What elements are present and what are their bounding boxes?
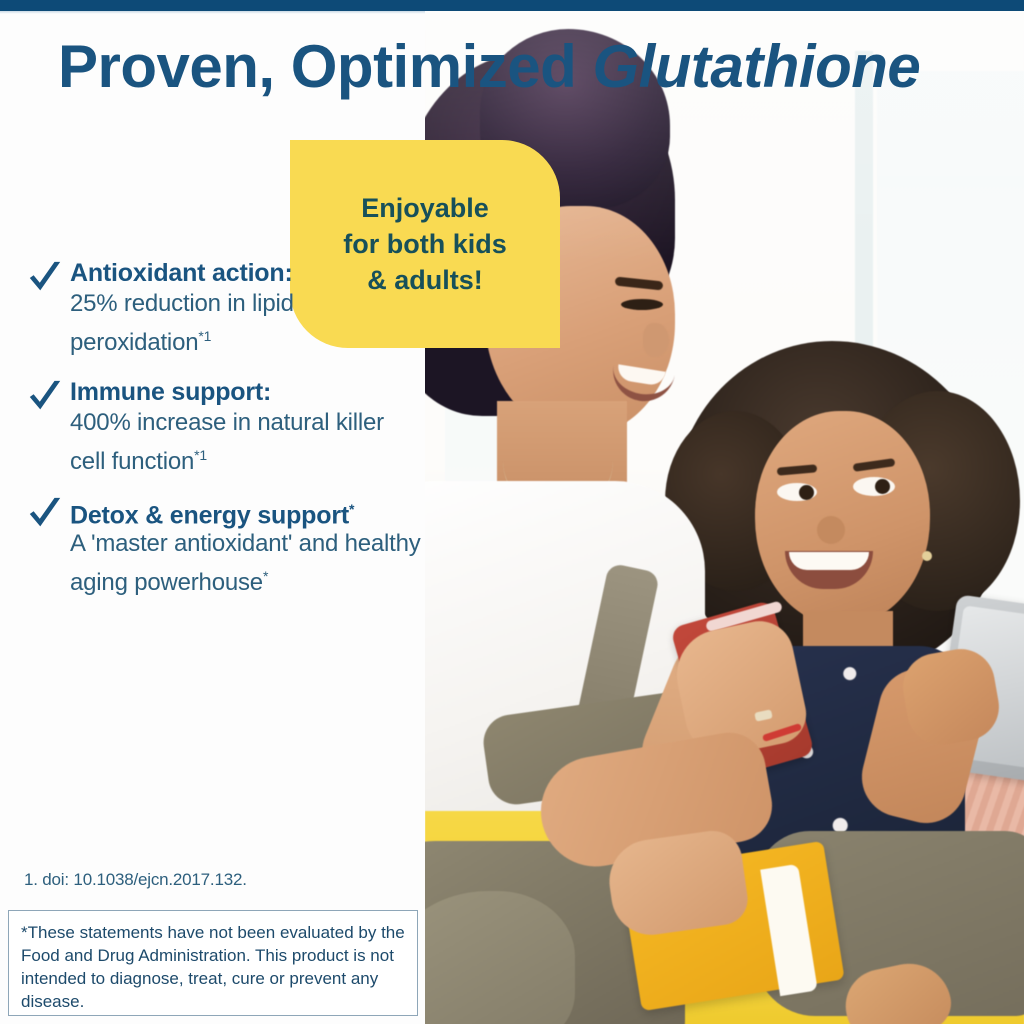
benefit-body: Antioxidant action: 25% reduction in lip… <box>22 258 422 359</box>
benefit-description: 25% reduction in lipid peroxidation*1 <box>70 288 422 359</box>
benefit-title: Detox & energy support* <box>70 494 422 530</box>
benefit-item-detox: Detox & energy support* A 'master antiox… <box>22 494 422 599</box>
photo-mother-knee <box>425 891 575 1024</box>
callout-line-2: for both kids <box>290 226 560 262</box>
infographic-canvas: Proven, Optimized Glutathione Enjoyable … <box>0 0 1024 1024</box>
benefit-title-footnote-mark: * <box>349 501 354 517</box>
benefit-footnote-mark: * <box>263 568 268 584</box>
photo-girl-face <box>755 411 930 626</box>
benefit-title-text: Detox & energy support <box>70 501 349 529</box>
photo-girl-teeth <box>789 552 869 570</box>
benefit-description-text: A 'master antioxidant' and healthy aging… <box>70 530 421 596</box>
benefit-title-text: Antioxidant action: <box>70 259 293 287</box>
photo-mother-eye <box>621 299 663 310</box>
photo-girl-pupil-left <box>799 485 814 500</box>
benefit-description-text: 25% reduction in lipid peroxidation <box>70 290 294 356</box>
benefit-footnote-mark: *1 <box>194 447 207 463</box>
benefit-body: Detox & energy support* A 'master antiox… <box>22 494 422 599</box>
top-accent-bar <box>0 0 1024 11</box>
photo-girl-earring <box>922 551 932 561</box>
page-title: Proven, Optimized Glutathione <box>58 34 1008 100</box>
page-title-emphasis: Glutathione <box>592 33 920 100</box>
benefit-description: A 'master antioxidant' and healthy aging… <box>70 528 422 599</box>
checkmark-icon <box>26 379 64 417</box>
checkmark-icon <box>26 260 64 298</box>
checkmark-icon <box>26 496 64 534</box>
benefit-description-text: 400% increase in natural killer cell fun… <box>70 409 384 475</box>
benefit-footnote-mark: *1 <box>198 328 211 344</box>
benefit-title: Antioxidant action: <box>70 258 422 288</box>
photo-mother-nose <box>643 323 669 357</box>
benefit-body: Immune support: 400% increase in natural… <box>22 377 422 478</box>
callout-line-1: Enjoyable <box>290 190 560 226</box>
benefit-item-antioxidant: Antioxidant action: 25% reduction in lip… <box>22 258 422 359</box>
benefit-description: 400% increase in natural killer cell fun… <box>70 407 422 478</box>
photo-girl-nose <box>817 516 845 544</box>
fda-disclaimer-box: *These statements have not been evaluate… <box>8 910 418 1016</box>
benefit-item-immune: Immune support: 400% increase in natural… <box>22 377 422 478</box>
benefit-title: Immune support: <box>70 377 422 407</box>
citation-reference: 1. doi: 10.1038/ejcn.2017.132. <box>24 870 247 890</box>
photo-girl-pupil-right <box>875 479 890 494</box>
fda-disclaimer-text: *These statements have not been evaluate… <box>21 921 405 1013</box>
benefit-list: Antioxidant action: 25% reduction in lip… <box>22 258 422 615</box>
benefit-title-text: Immune support: <box>70 378 271 406</box>
page-title-main: Proven, Optimized <box>58 33 592 100</box>
